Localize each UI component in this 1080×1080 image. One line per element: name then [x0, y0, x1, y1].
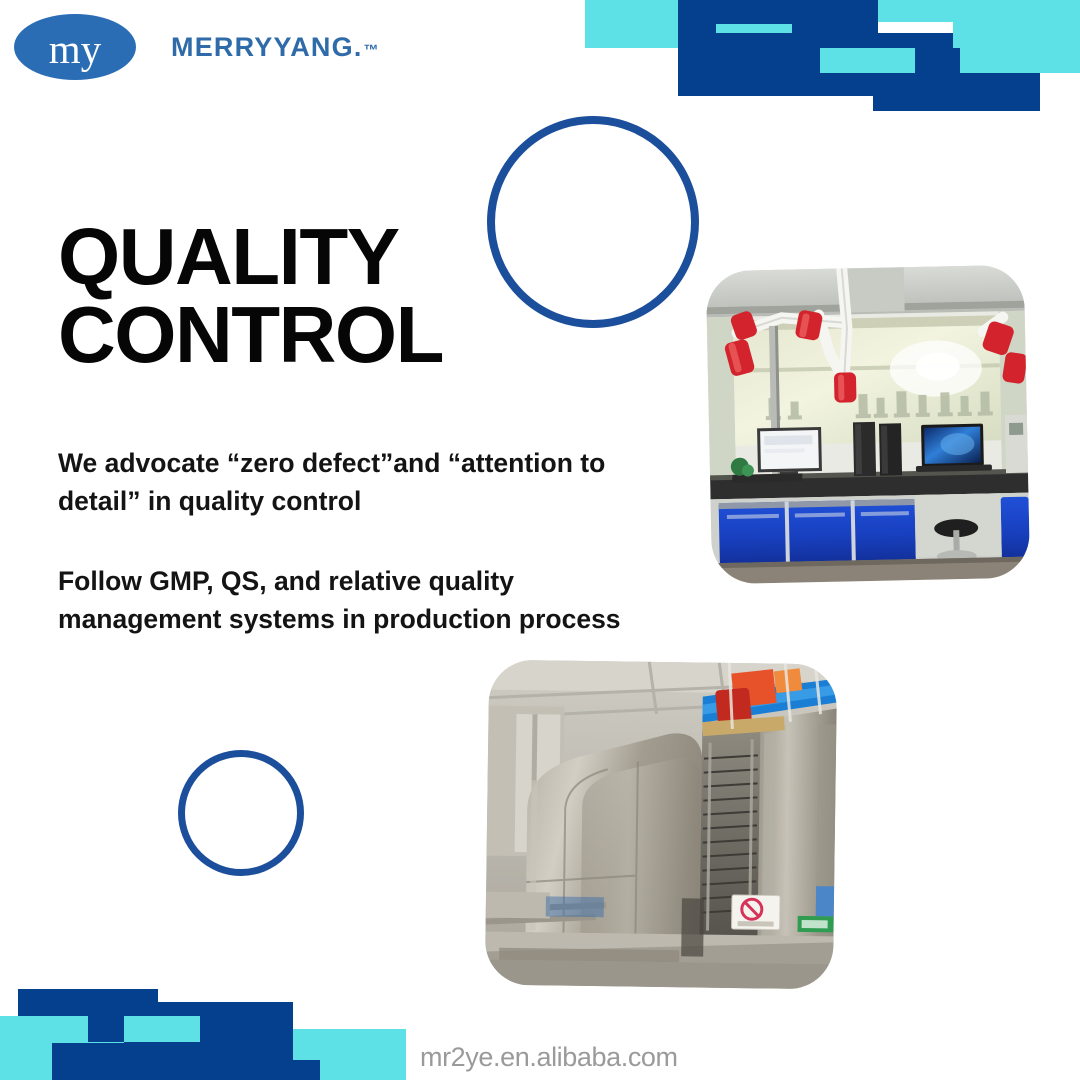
decor-block-blue-9: [873, 96, 1040, 111]
decor-block-blue-8: [820, 73, 1040, 96]
body-paragraph-2: Follow GMP, QS, and relative quality man…: [58, 563, 668, 638]
decor-block-blue-16: [200, 1060, 320, 1080]
trademark-icon: ™: [364, 42, 380, 59]
body-paragraph-1: We advocate “zero defect”and “attention …: [58, 445, 668, 520]
brand-wordmark: MERRYYANG.™: [171, 32, 380, 63]
page-title: QUALITY CONTROL: [58, 218, 528, 375]
logo-ellipse-mark: my: [14, 14, 136, 80]
quality-control-laboratory-photo: [706, 265, 1030, 585]
decor-block-blue-2: [678, 24, 716, 96]
production-machinery-photo: [485, 660, 838, 990]
decor-block-blue-7: [915, 48, 960, 73]
decor-ring-small: [178, 750, 304, 876]
decor-block-cyan-9: [124, 1016, 200, 1042]
watermark-url: mr2ye.en.alibaba.com: [420, 1042, 678, 1073]
brand-logo[interactable]: my MERRYYANG.™: [14, 8, 414, 86]
brand-name-text: MERRYYANG.: [171, 32, 363, 63]
laboratory-scene-illustration: [706, 265, 1030, 585]
decor-block-blue-5: [716, 33, 978, 48]
quality-control-poster: my MERRYYANG.™ QUALITY CONTROL We advoca…: [0, 0, 1080, 1080]
decor-block-blue-12: [88, 1016, 124, 1042]
machinery-scene-illustration: [485, 660, 838, 990]
decor-block-cyan-3: [878, 0, 953, 22]
logo-mark-text: my: [49, 29, 101, 70]
decor-block-blue-6: [716, 48, 820, 96]
